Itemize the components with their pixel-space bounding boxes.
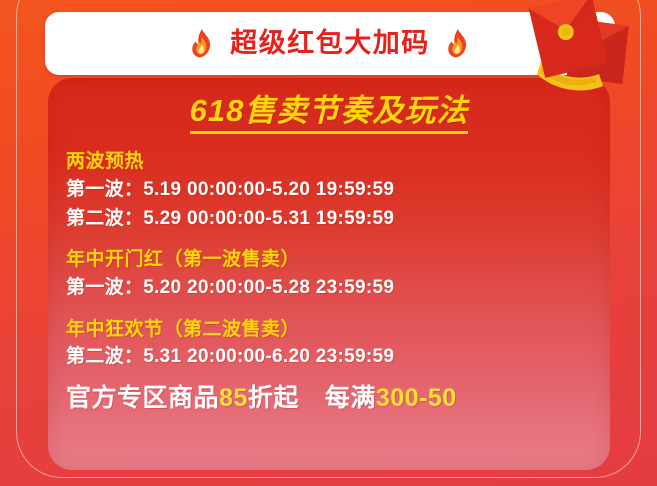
section-warmup: 两波预热 第一波：5.19 00:00:00-5.20 19:59:59 第二波… (66, 148, 610, 233)
promo-footer: 官方专区商品85折起每满300-50 (48, 383, 610, 413)
section-line: 第二波：5.31 20:00:00-6.20 23:59:59 (66, 343, 610, 372)
header-pill: 超级红包大加码 (45, 12, 615, 75)
card-title-wrap: 618售卖节奏及玩法 (48, 94, 610, 134)
promo-banner: 超级红包大加码 (0, 0, 657, 486)
section-heading: 年中开门红（第一波售卖） (66, 246, 610, 274)
section-line: 第二波：5.29 00:00:00-5.31 19:59:59 (66, 205, 610, 234)
card-title: 618售卖节奏及玩法 (190, 94, 469, 134)
footer-discount: 85 (219, 384, 248, 412)
footer-amount: 300-50 (376, 384, 457, 412)
footer-part2: 折起 (248, 384, 299, 412)
flame-icon (191, 29, 213, 59)
section-heading: 两波预热 (66, 148, 610, 176)
schedule-sections: 两波预热 第一波：5.19 00:00:00-5.20 19:59:59 第二波… (48, 148, 610, 372)
section-heading: 年中狂欢节（第二波售卖） (66, 316, 610, 344)
header-title: 超级红包大加码 (230, 30, 430, 57)
footer-part3: 每满 (325, 384, 376, 412)
section-line: 第一波：5.19 00:00:00-5.20 19:59:59 (66, 176, 610, 205)
section-second-wave: 年中狂欢节（第二波售卖） 第二波：5.31 20:00:00-6.20 23:5… (66, 316, 610, 372)
promo-card: 618售卖节奏及玩法 两波预热 第一波：5.19 00:00:00-5.20 1… (48, 78, 610, 470)
footer-part1: 官方专区商品 (66, 384, 219, 412)
flame-icon (447, 29, 469, 59)
section-line: 第一波：5.20 20:00:00-5.28 23:59:59 (66, 274, 610, 303)
section-first-wave: 年中开门红（第一波售卖） 第一波：5.20 20:00:00-5.28 23:5… (66, 246, 610, 302)
